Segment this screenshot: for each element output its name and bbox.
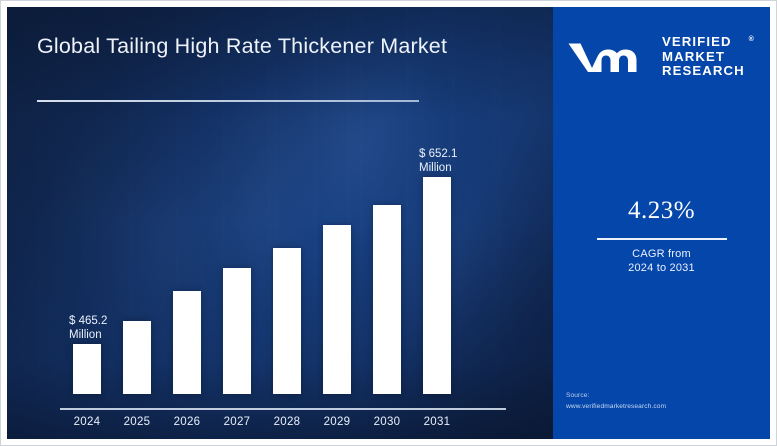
source-label: Source: xyxy=(566,390,666,401)
x-label-2025: 2025 xyxy=(110,416,164,428)
x-label-2026: 2026 xyxy=(160,416,214,428)
vmr-monogram-icon xyxy=(567,37,653,77)
cagr-caption-line2: 2024 to 2031 xyxy=(553,261,770,275)
chart-panel: Global Tailing High Rate Thickener Marke… xyxy=(7,7,553,439)
bar-2031 xyxy=(423,177,451,394)
brand-name: VERIFIED MARKET RESEARCH ® xyxy=(662,35,745,79)
bar-2026 xyxy=(173,291,201,394)
value-label-2031: $ 652.1Million xyxy=(419,147,457,175)
value-label-amount: $ 652.1 xyxy=(419,147,457,161)
bar-2025 xyxy=(123,321,151,394)
brand-panel: VERIFIED MARKET RESEARCH ® 4.23% CAGR fr… xyxy=(553,7,770,439)
bar-2030 xyxy=(373,205,401,394)
value-label-unit: Million xyxy=(69,328,107,342)
source-attribution: Source: www.verifiedmarketresearch.com xyxy=(566,390,666,412)
value-label-unit: Million xyxy=(419,161,457,175)
value-label-amount: $ 465.2 xyxy=(69,314,107,328)
cagr-caption-line1: CAGR from xyxy=(553,247,770,261)
brand-name-line1: VERIFIED xyxy=(662,35,745,50)
market-infographic: Global Tailing High Rate Thickener Marke… xyxy=(0,0,777,446)
x-label-2024: 2024 xyxy=(60,416,114,428)
bar-2028 xyxy=(273,248,301,394)
x-label-2028: 2028 xyxy=(260,416,314,428)
source-url[interactable]: www.verifiedmarketresearch.com xyxy=(566,401,666,412)
bar-2024 xyxy=(73,344,101,394)
bar-2027 xyxy=(223,268,251,394)
brand-name-line2: MARKET xyxy=(662,50,745,65)
brand-logo: VERIFIED MARKET RESEARCH ® xyxy=(567,35,745,79)
x-label-2027: 2027 xyxy=(210,416,264,428)
value-label-2024: $ 465.2Million xyxy=(69,314,107,342)
registered-trademark-icon: ® xyxy=(749,33,754,48)
cagr-value: 4.23% xyxy=(553,197,770,225)
x-axis-line xyxy=(60,408,506,410)
bar-2029 xyxy=(323,225,351,394)
cagr-divider xyxy=(597,238,727,240)
x-label-2031: 2031 xyxy=(410,416,464,428)
x-label-2029: 2029 xyxy=(310,416,364,428)
brand-name-line3: RESEARCH xyxy=(662,64,745,79)
cagr-caption: CAGR from 2024 to 2031 xyxy=(553,247,770,275)
x-label-2030: 2030 xyxy=(360,416,414,428)
bar-chart: 20242025202620272028202920302031 $ 465.2… xyxy=(7,7,553,439)
